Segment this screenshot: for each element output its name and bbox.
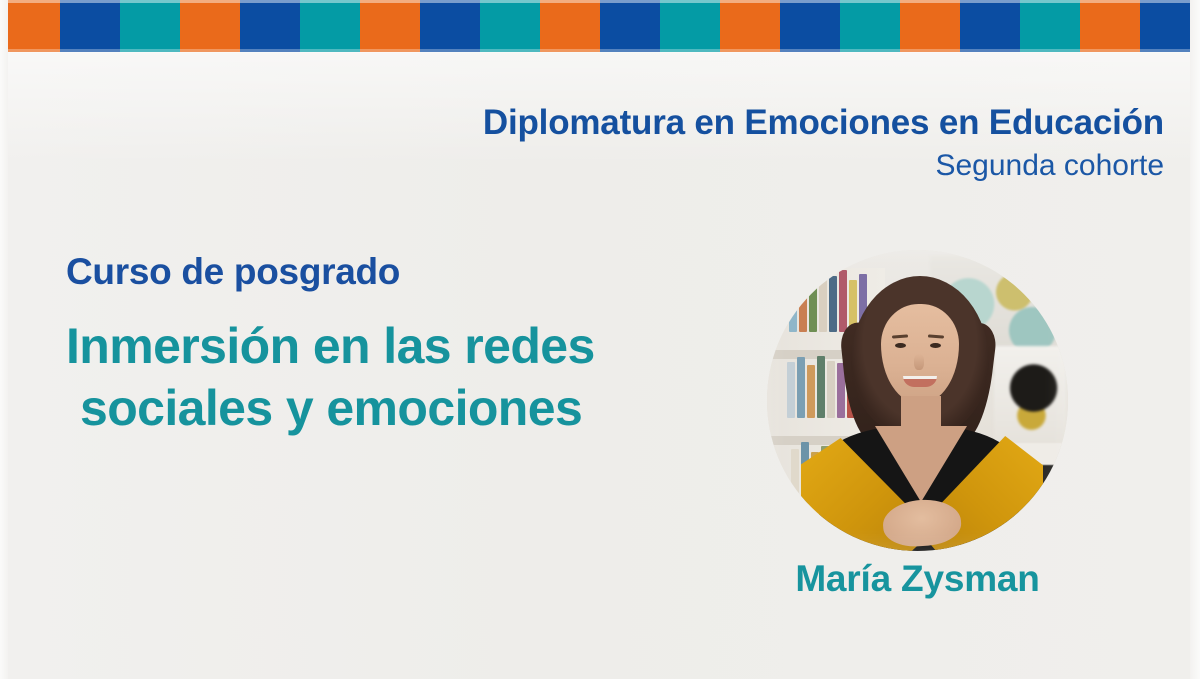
header-block: Diplomatura en Emociones en Educación Se… (483, 104, 1164, 184)
portrait-person (767, 250, 1068, 551)
course-title: Inmersión en las redes sociales y emocio… (66, 315, 595, 440)
program-subtitle: Segunda cohorte (483, 147, 1164, 185)
speaker-photo (767, 250, 1068, 551)
stripe-15 (900, 0, 960, 52)
stripe-10 (600, 0, 660, 52)
course-title-line-1: Inmersión en las redes (66, 315, 595, 378)
eye-right (930, 343, 941, 348)
stripe-4 (240, 0, 300, 52)
stripe-5 (300, 0, 360, 52)
promotional-slide: Diplomatura en Emociones en Educación Se… (0, 0, 1200, 679)
stripe-12 (720, 0, 780, 52)
course-kicker: Curso de posgrado (66, 252, 595, 293)
nose (914, 354, 924, 370)
stripe-14 (840, 0, 900, 52)
decorative-stripe-band (0, 0, 1200, 52)
speaker-name: María Zysman (767, 558, 1068, 600)
eye-left (895, 343, 906, 348)
stripe-8 (480, 0, 540, 52)
stripe-3 (180, 0, 240, 52)
stripe-18 (1080, 0, 1140, 52)
slide-right-edge (1190, 0, 1200, 679)
stripe-13 (780, 0, 840, 52)
stripe-9 (540, 0, 600, 52)
stripe-0 (0, 0, 60, 52)
stripe-7 (420, 0, 480, 52)
stripe-11 (660, 0, 720, 52)
course-title-line-2: sociales y emociones (80, 377, 595, 440)
stripe-16 (960, 0, 1020, 52)
stripe-17 (1020, 0, 1080, 52)
portrait-illustration (767, 250, 1068, 551)
stripe-6 (360, 0, 420, 52)
stripe-2 (120, 0, 180, 52)
slide-left-edge (0, 0, 8, 679)
stripe-1 (60, 0, 120, 52)
course-block: Curso de posgrado Inmersión en las redes… (66, 252, 595, 440)
program-title: Diplomatura en Emociones en Educación (483, 104, 1164, 142)
